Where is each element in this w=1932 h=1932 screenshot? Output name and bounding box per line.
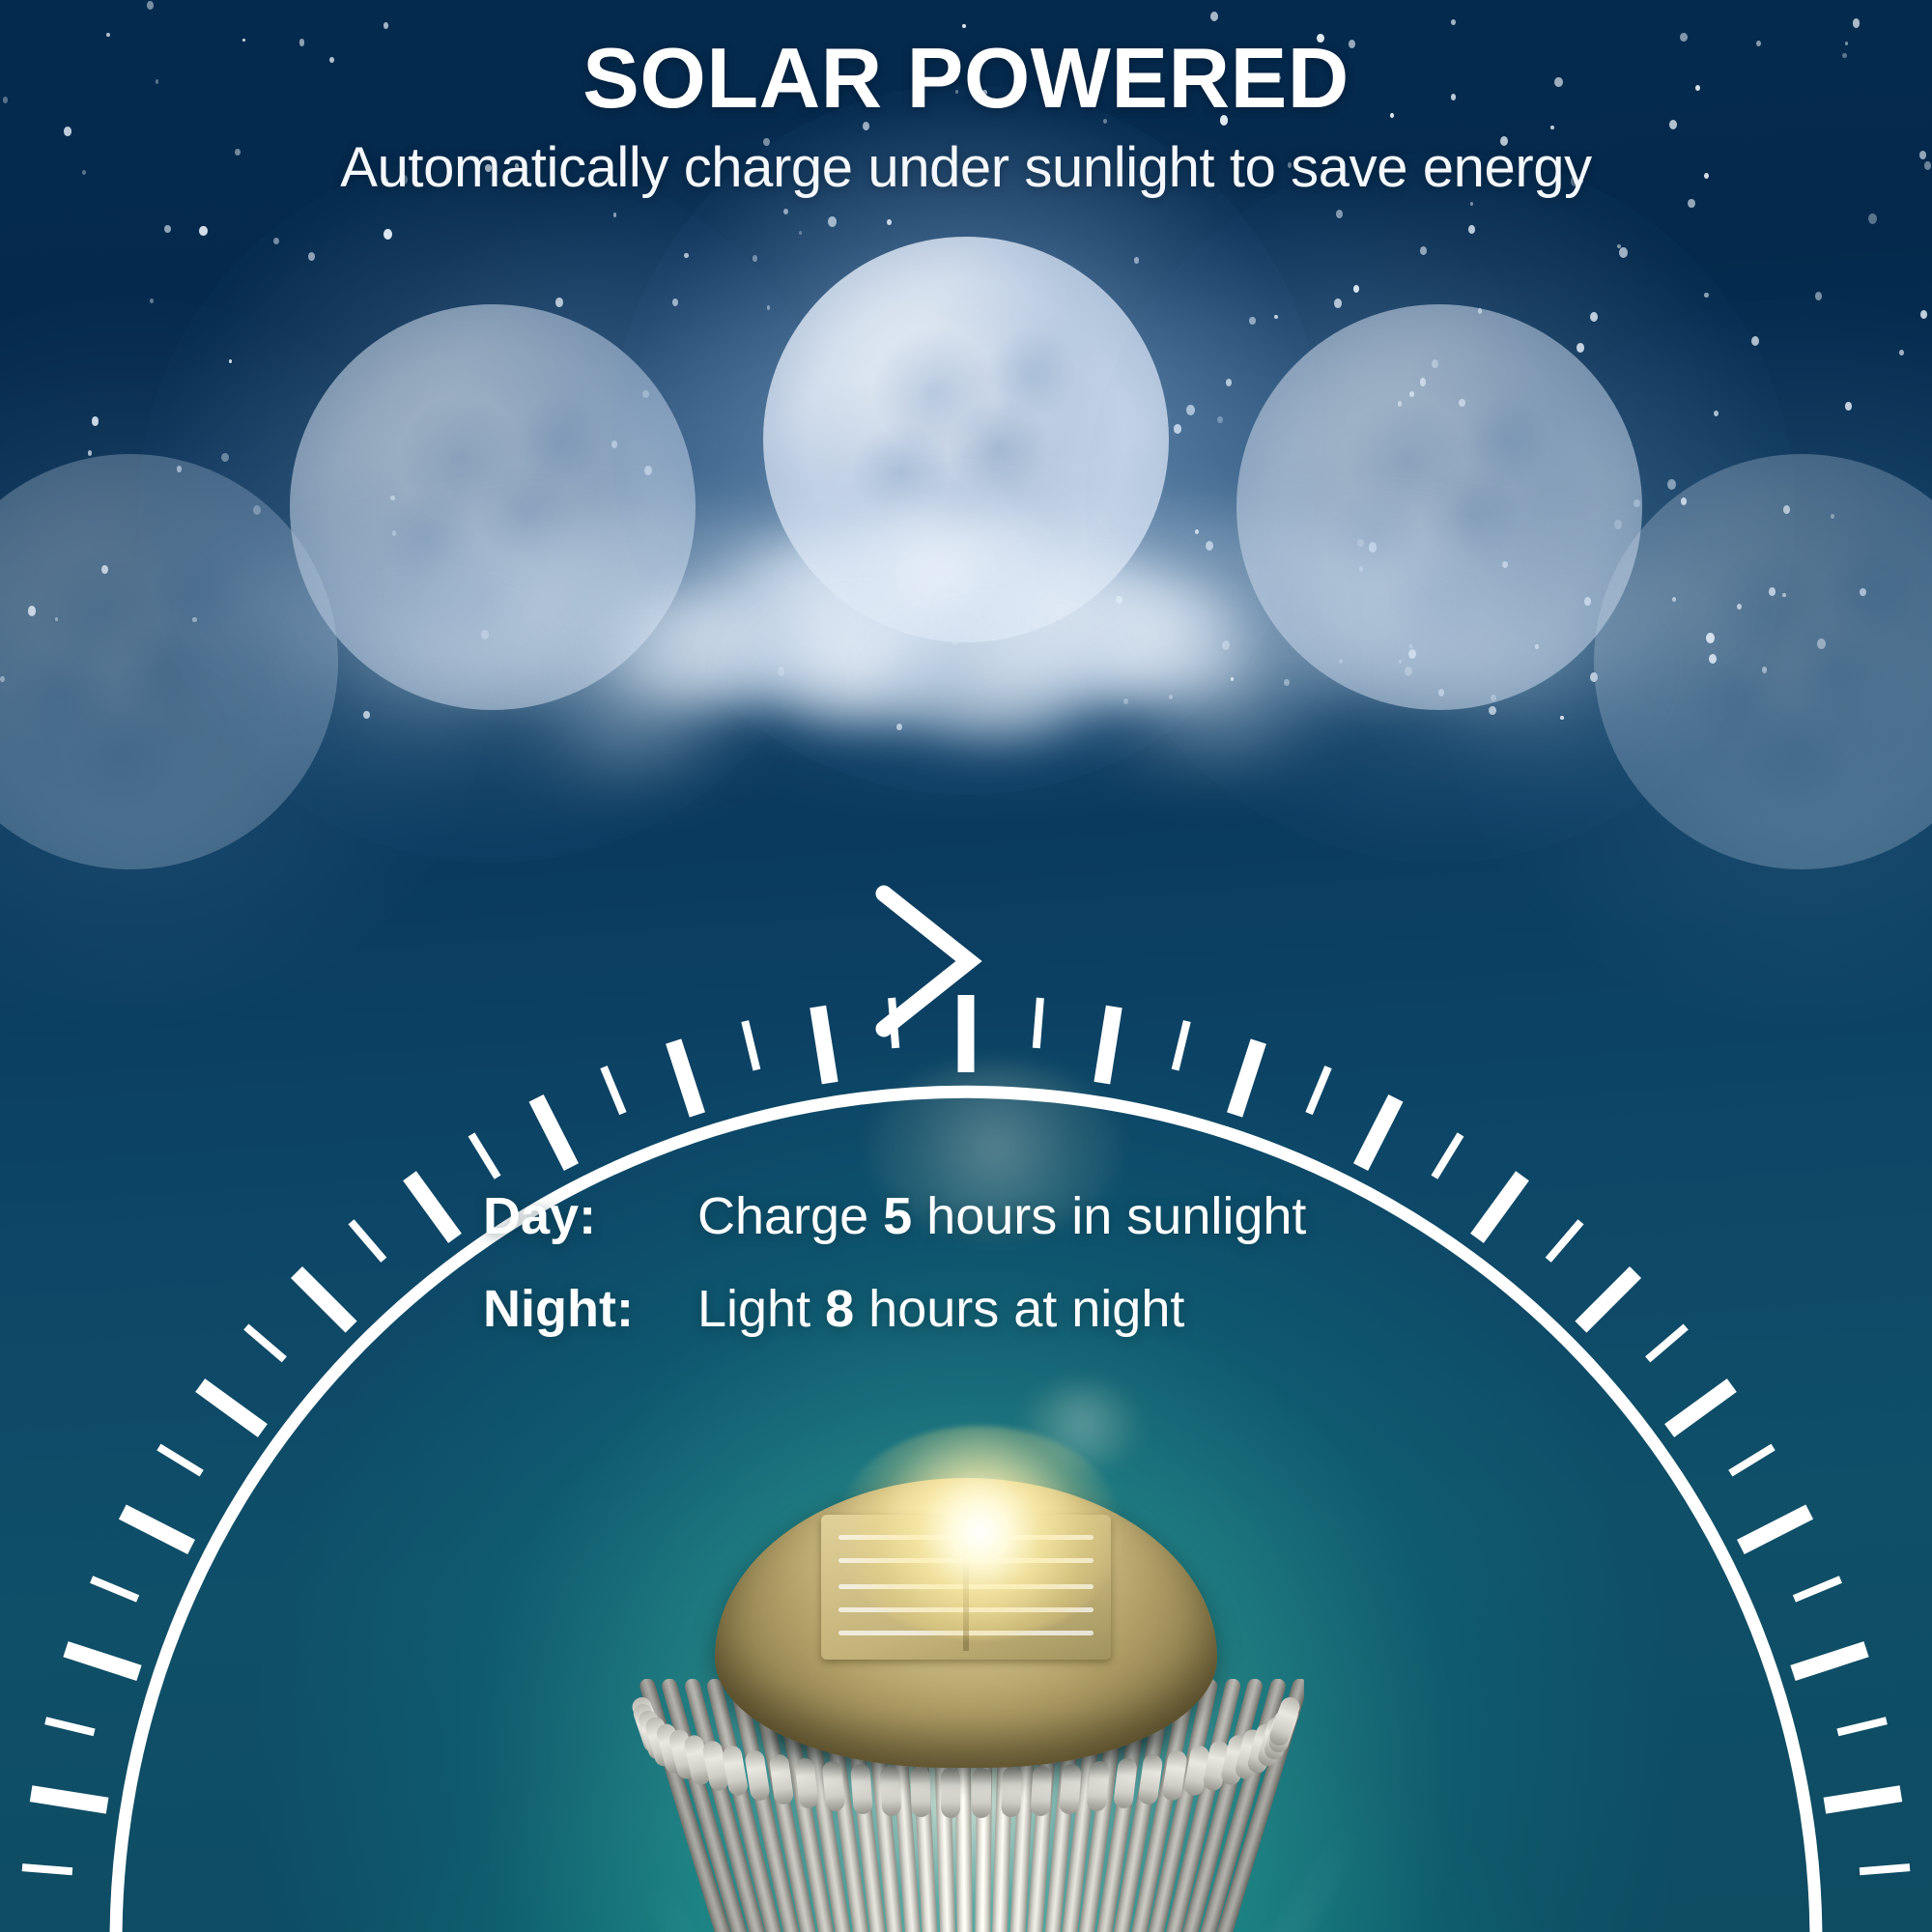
dial-tick-major (410, 1176, 455, 1238)
solar-rattan-lantern (618, 1478, 1314, 1932)
info-label-night: Night: (483, 1279, 676, 1339)
dial-tick-minor (45, 1720, 95, 1732)
dial-tick-major (1825, 1794, 1901, 1806)
basket-coil (941, 1768, 961, 1818)
page-subtitle: Automatically charge under sunlight to s… (0, 135, 1932, 200)
dial-tick-minor (158, 1447, 201, 1473)
dial-tick-minor (246, 1327, 284, 1360)
info-text-day: Charge 5 hours in sunlight (697, 1186, 1306, 1246)
dial-tick-major (818, 1007, 831, 1083)
basket-coil (880, 1765, 902, 1816)
dial-tick-minor (1837, 1720, 1887, 1732)
dial-tick-minor (1176, 1021, 1187, 1070)
dial-tick-minor (1037, 998, 1040, 1048)
clockwise-arrow-icon (884, 894, 969, 1029)
dial-tick-major (1361, 1098, 1396, 1167)
dial-tick-major (123, 1512, 191, 1547)
dial-tick-minor (352, 1222, 384, 1261)
dial-tick-minor (471, 1134, 497, 1177)
dial-tick-major (673, 1041, 697, 1115)
dial-tick-minor (745, 1021, 756, 1070)
dial-tick-minor (92, 1579, 138, 1599)
dial-tick-major (1669, 1385, 1732, 1431)
basket-coil (971, 1768, 991, 1818)
dial-tick-minor (1548, 1222, 1581, 1261)
basket-coil (1001, 1767, 1022, 1818)
dial-tick-minor (1309, 1067, 1328, 1114)
lamp-light-hotspot (835, 1426, 1124, 1638)
info-label-day: Day: (483, 1186, 676, 1246)
info-row-day: Day: Charge 5 hours in sunlight (483, 1186, 1306, 1246)
info-row-night: Night: Light 8 hours at night (483, 1279, 1306, 1339)
dial-tick-major (1741, 1512, 1809, 1547)
dial-tick-minor (22, 1867, 72, 1871)
dial-tick-major (297, 1272, 352, 1327)
dial-tick-major (1102, 1007, 1115, 1083)
dial-tick-minor (1435, 1134, 1461, 1177)
dial-tick-major (66, 1649, 139, 1673)
dial-tick-major (31, 1794, 107, 1806)
dial-tick-major (1580, 1272, 1635, 1327)
basket-coil (1059, 1763, 1082, 1814)
page-title: SOLAR POWERED (0, 29, 1932, 128)
dial-tick-minor (1648, 1327, 1687, 1360)
basket-coil (850, 1763, 873, 1814)
dial-tick-minor (1860, 1867, 1910, 1871)
dial-tick-major (200, 1385, 263, 1431)
dial-tick-major (1793, 1649, 1866, 1673)
dial-tick-major (1477, 1176, 1522, 1238)
solar-powered-infographic: SOLAR POWERED Automatically charge under… (0, 0, 1932, 1932)
dial-tick-minor (1794, 1579, 1840, 1599)
dial-tick-major (1235, 1041, 1259, 1115)
basket-coil (910, 1767, 931, 1818)
dial-tick-minor (1730, 1447, 1773, 1473)
charge-info-block: Day: Charge 5 hours in sunlight Night: L… (483, 1186, 1306, 1372)
info-text-night: Light 8 hours at night (697, 1279, 1184, 1339)
basket-coil (1030, 1765, 1052, 1816)
dial-tick-major (536, 1098, 571, 1167)
dial-tick-minor (604, 1067, 623, 1114)
